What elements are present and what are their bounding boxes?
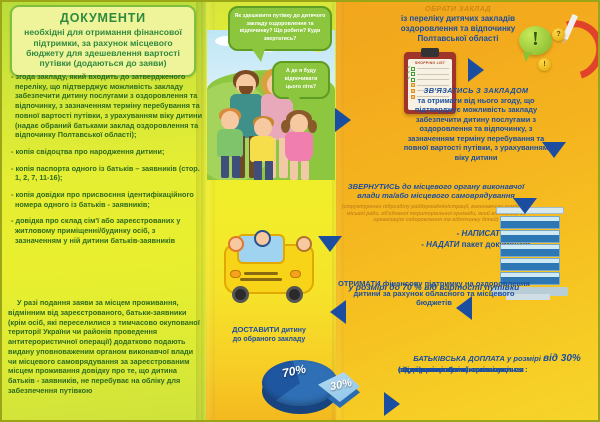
bus-child-head (228, 236, 244, 252)
document-item: - довідка про склад сім'ї або зареєстров… (7, 216, 203, 245)
building-floor (500, 230, 560, 243)
arrow-down-icon (318, 236, 342, 252)
bus-headlight (290, 270, 301, 278)
document-item: - копія свідоцтва про народження дитини; (7, 147, 203, 157)
step-1-body: із переліку дитячих закладів оздоровленн… (378, 14, 538, 44)
step-5-bullet: (за місцем роботи) (398, 365, 468, 375)
question-badge-icon: ? (552, 28, 565, 41)
speech-bubble-question-child: А де я буду відпочивати цього літа? (272, 61, 330, 99)
step-3-action-2-caps: - НАДАТИ (421, 240, 459, 249)
building-floor (500, 258, 560, 271)
step-5-parent-copayment: БАТЬКІВСЬКА ДОПЛАТА у розмірі від 30% ві… (398, 352, 596, 365)
deliver-line2: до обраного закладу (205, 335, 333, 344)
school-bus-illustration (210, 228, 330, 323)
bus-grill (240, 278, 282, 281)
deliver-caps: ДОСТАВИТИ (232, 325, 279, 334)
step-1-header: ОБРАТИ ЗАКЛАД (378, 4, 538, 13)
clipboard-row: ✓ (411, 72, 449, 76)
deliver-rest: дитину (281, 327, 306, 334)
arrow-left-icon (456, 296, 472, 320)
arrow-right-icon (384, 392, 400, 416)
clipboard-clamp (421, 48, 439, 57)
step-2-contact-institution: ЗВ'ЯЗАТИСЬ З ЗАКЛАДОМ та отримати від нь… (396, 86, 556, 95)
documents-list: - згода закладу, який входить до затверд… (7, 72, 203, 253)
documents-note: У разі подання заяви за місцем проживанн… (8, 298, 200, 396)
checkbox-checked-icon (411, 72, 415, 76)
figure-child-girl (283, 110, 319, 180)
figure-child-boy (215, 108, 247, 178)
document-item: - згода закладу, який входить до затверд… (7, 72, 203, 140)
arrow-right-icon (335, 108, 351, 132)
bus-driver-head (254, 230, 271, 247)
clipboard-row: ✓ (411, 67, 449, 71)
speech-bubble-main-text: Як здешевити путівку до дитячого закладу… (235, 13, 326, 42)
documents-title: ДОКУМЕНТИ (17, 11, 189, 25)
bus-child-head (296, 236, 312, 252)
step-5-header-caps: БАТЬКІВСЬКА ДОПЛАТА (413, 354, 505, 363)
step-4-header: ОТРИМАТИ фінансову підтримку на оздоровл… (336, 279, 532, 308)
clipboard-title: SHOPPING LIST (408, 61, 452, 65)
documents-title-box: ДОКУМЕНТИ необхідні для отримання фінанс… (10, 5, 196, 77)
check-mark-icon: ✓ (406, 77, 410, 82)
arrow-down-icon (513, 198, 537, 214)
exclamation-badge-icon: ! (538, 58, 551, 71)
checkbox-checked-icon (411, 78, 415, 82)
figure-child-boy (249, 116, 281, 180)
funding-pie-chart: 70% 30% (258, 352, 370, 422)
bus-wheel (232, 286, 249, 303)
infographic-poster: ДОКУМЕНТИ необхідні для отримання фінанс… (0, 0, 600, 422)
document-item: - копія довідки про присвоєння ідентифік… (7, 190, 203, 209)
speech-bubble-child-text: А де я буду відпочивати цього літа? (285, 68, 318, 90)
deliver-step-label: ДОСТАВИТИ дитину до обраного закладу (205, 325, 333, 344)
speech-bubble-question-main: Як здешевити путівку до дитячого закладу… (228, 6, 332, 51)
bus-headlight (230, 270, 241, 278)
arrow-left-icon (330, 300, 346, 324)
step-3-header-caps: ЗВЕРНУТИСЬ (348, 182, 400, 191)
step-1-choose-institution: ОБРАТИ ЗАКЛАД із переліку дитячих заклад… (378, 4, 538, 13)
step-4-header-caps: ОТРИМАТИ (338, 279, 381, 288)
step-3-header: ЗВЕРНУТИСЬ до місцевого органу виконавчо… (338, 182, 534, 201)
step-2-body: та отримати від нього згоду, що підтверд… (396, 96, 556, 162)
checkbox-checked-icon (411, 67, 415, 71)
clipboard-row: ✓ (411, 78, 449, 82)
bus-wheel (286, 286, 303, 303)
speech-bubble-tail (288, 97, 300, 108)
step-2-header: ЗВ'ЯЗАТИСЬ З ЗАКЛАДОМ (396, 86, 556, 95)
step-5-header-mid: у розмірі (507, 354, 541, 363)
building-floor (500, 216, 560, 229)
bus-grill (244, 272, 278, 275)
family-illustration (207, 30, 335, 180)
step-4-receive-support: ОТРИМАТИ фінансову підтримку на оздоровл… (336, 279, 532, 293)
arrow-right-icon (468, 58, 484, 82)
speech-bubble-tail (252, 49, 265, 62)
arrow-down-icon (542, 142, 566, 158)
step-5-header-percent: від 30% (543, 353, 581, 364)
step-5-header: БАТЬКІВСЬКА ДОПЛАТА у розмірі від 30% (398, 352, 596, 365)
documents-subtitle: необхідні для отримання фінансової підтр… (17, 27, 189, 68)
document-item: - копія паспорта одного із батьків – зая… (7, 164, 203, 183)
building-floor (500, 244, 560, 257)
